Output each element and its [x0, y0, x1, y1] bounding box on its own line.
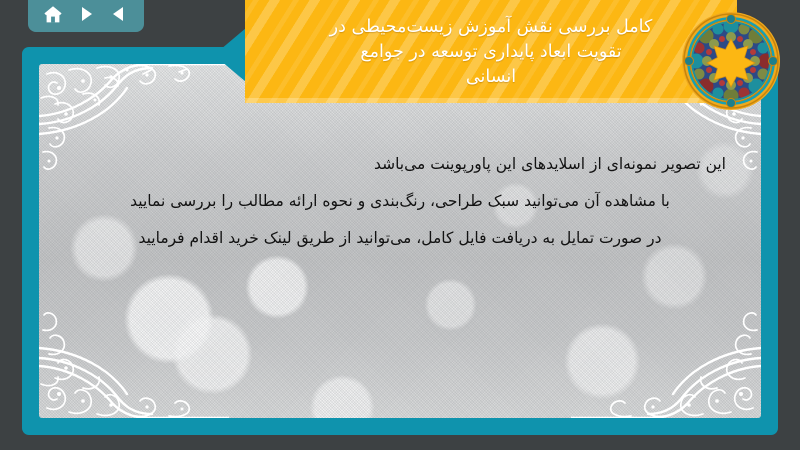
home-icon[interactable] [41, 3, 65, 25]
forward-arrow-icon[interactable] [74, 3, 98, 25]
slide-viewer: این تصویر نمونه‌ای از اسلایدهای این پاور… [0, 0, 800, 450]
banner-notch [214, 0, 246, 28]
page-title: کامل بررسی نقش آموزش زیست‌محیطی در تقویت… [256, 13, 726, 90]
title-line-2: تقویت ابعاد پایداری توسعه در جوامع [256, 40, 726, 65]
body-line-2: با مشاهده آن می‌توانید سبک طراحی، رنگ‌بن… [64, 183, 736, 220]
persian-medallion-icon [679, 9, 783, 113]
slide-body-text: این تصویر نمونه‌ای از اسلایدهای این پاور… [56, 146, 744, 257]
slide-content-panel: این تصویر نمونه‌ای از اسلایدهای این پاور… [39, 64, 761, 418]
navigation-bar [28, 0, 144, 32]
corner-ornament-bottom-left [39, 298, 229, 418]
slide-frame: این تصویر نمونه‌ای از اسلایدهای این پاور… [22, 47, 778, 435]
title-line-3: انسانی [256, 65, 726, 90]
back-arrow-icon[interactable] [107, 3, 131, 25]
banner-arrow-tail [214, 28, 246, 82]
body-line-3: در صورت تمایل به دریافت فایل کامل، می‌تو… [64, 220, 736, 257]
corner-ornament-bottom-right [571, 298, 761, 418]
title-line-1: کامل بررسی نقش آموزش زیست‌محیطی در [256, 15, 726, 40]
body-line-1: این تصویر نمونه‌ای از اسلایدهای این پاور… [64, 146, 736, 183]
banner-body: کامل بررسی نقش آموزش زیست‌محیطی در تقویت… [245, 0, 737, 103]
